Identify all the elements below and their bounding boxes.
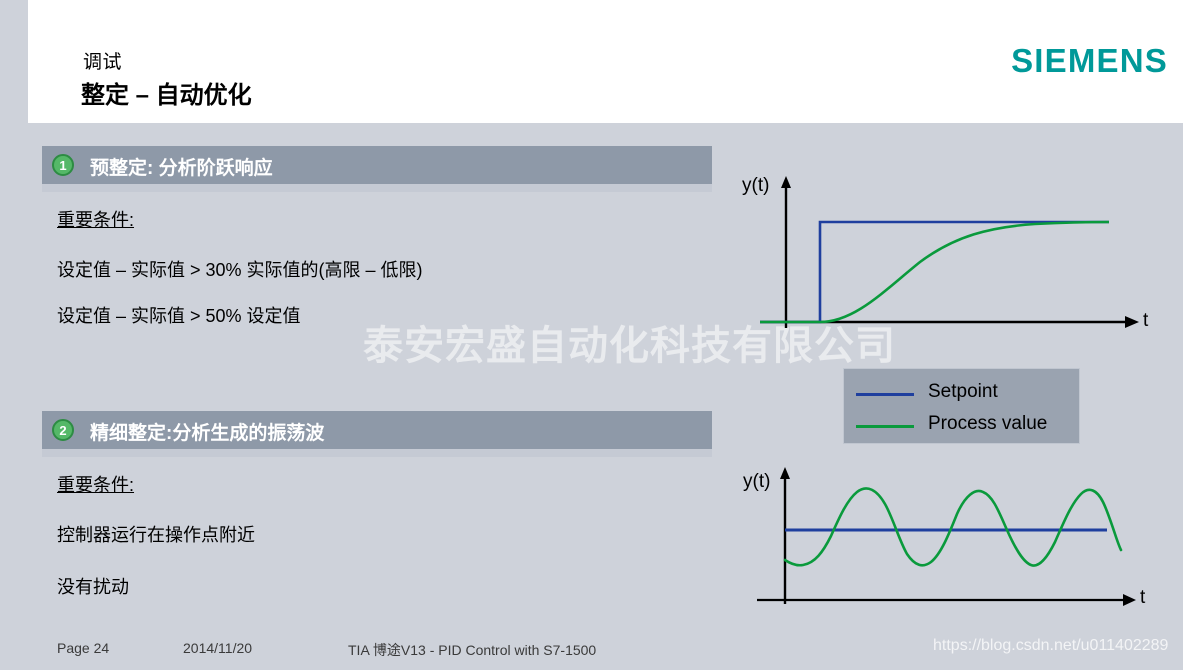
- oscillation-chart-y-axis-arrow: [780, 467, 790, 479]
- siemens-logo: SIEMENS: [1011, 42, 1168, 80]
- footer-date: 2014/11/20: [183, 640, 252, 656]
- oscillation-chart-x-axis-label: t: [1140, 587, 1145, 609]
- section-strip-1: [42, 184, 712, 192]
- slide-header: 调试 整定 – 自动优化 SIEMENS: [28, 0, 1183, 123]
- step-chart-process-value-line: [760, 222, 1109, 322]
- section-2-condition-line-2: 没有扰动: [57, 573, 129, 599]
- legend-label-process-value: Process value: [928, 413, 1047, 435]
- legend-label-setpoint: Setpoint: [928, 381, 998, 403]
- url-watermark: https://blog.csdn.net/u011402289: [933, 637, 1168, 655]
- section-title-2: 精细整定:分析生成的振荡波: [90, 418, 324, 445]
- oscillation-chart-y-axis-label: y(t): [743, 471, 770, 493]
- step-chart-plot: [735, 170, 1165, 340]
- step-chart-setpoint-line: [760, 222, 1109, 322]
- section-title-1: 预整定: 分析阶跃响应: [90, 153, 273, 180]
- slide-canvas: 调试 整定 – 自动优化 SIEMENS 泰安宏盛自动化科技有限公司 https…: [0, 0, 1183, 670]
- step-chart-y-axis-label: y(t): [742, 175, 769, 197]
- legend-swatch-setpoint: [856, 393, 914, 396]
- step-chart-x-axis-label: t: [1143, 310, 1148, 332]
- page-title: 整定 – 自动优化: [81, 75, 252, 110]
- step-response-chart: y(t) t: [735, 170, 1165, 340]
- header-kicker: 调试: [83, 47, 122, 74]
- section-badge-1: 1: [52, 154, 74, 176]
- section-strip-2: [42, 449, 712, 457]
- section-badge-2: 2: [52, 419, 74, 441]
- section-1-condition-line-2: 设定值 – 实际值 > 50% 设定值: [57, 302, 301, 328]
- legend-swatch-process-value: [856, 425, 914, 428]
- section-1-condition-label: 重要条件:: [57, 206, 134, 232]
- step-chart-x-axis-arrow: [1125, 316, 1139, 328]
- oscillation-chart-x-axis-arrow: [1123, 594, 1136, 606]
- step-chart-y-axis-arrow: [781, 176, 791, 188]
- section-1-condition-line-1: 设定值 – 实际值 > 30% 实际值的(高限 – 低限): [57, 256, 423, 282]
- oscillation-chart-plot: [735, 462, 1165, 617]
- section-header-2: 2 精细整定:分析生成的振荡波: [42, 411, 712, 449]
- footer-course-title: TIA 博途V13 - PID Control with S7-1500: [348, 640, 596, 660]
- oscillation-chart: y(t) t: [735, 462, 1165, 617]
- chart-legend: Setpoint Process value: [843, 368, 1080, 444]
- oscillation-chart-process-value-line: [785, 488, 1121, 565]
- section-2-condition-label: 重要条件:: [57, 471, 134, 497]
- footer-page-number: Page 24: [57, 640, 109, 656]
- section-header-1: 1 预整定: 分析阶跃响应: [42, 146, 712, 184]
- section-2-condition-line-1: 控制器运行在操作点附近: [57, 521, 255, 547]
